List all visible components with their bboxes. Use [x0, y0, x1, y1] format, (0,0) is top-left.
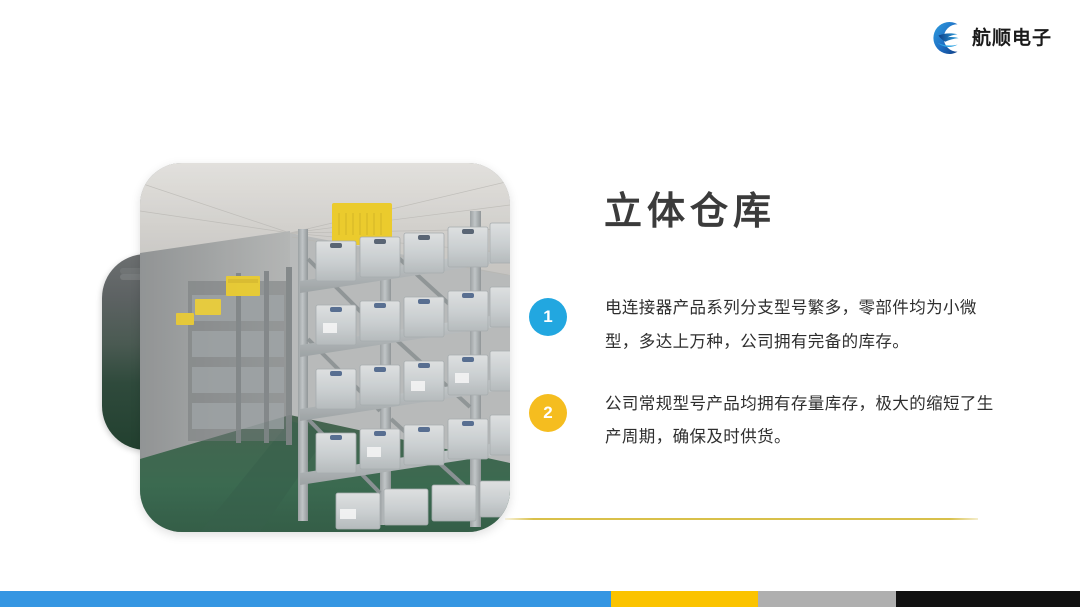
bar-segment-black [896, 591, 1080, 607]
bar-segment-yellow [611, 591, 758, 607]
bullet-text: 公司常规型号产品均拥有存量库存，极大的缩短了生产周期，确保及时供货。 [605, 388, 999, 456]
warehouse-shelving-photo [140, 163, 510, 532]
gold-divider-line [505, 518, 978, 520]
brand-logo: 航顺电子 [926, 18, 1052, 58]
slide-canvas: 航顺电子 [0, 0, 1080, 607]
hangshun-swoosh-icon [926, 18, 966, 58]
bullet-number-badge: 2 [529, 394, 567, 432]
bullet-list: 1 电连接器产品系列分支型号繁多，零部件均为小微型，多达上万种，公司拥有完备的库… [529, 292, 999, 483]
warehouse-photo-group [98, 158, 518, 538]
page-title: 立体仓库 [604, 190, 1004, 236]
bar-segment-gray [758, 591, 896, 607]
bullet-number-badge: 1 [529, 298, 567, 336]
list-item: 2 公司常规型号产品均拥有存量库存，极大的缩短了生产周期，确保及时供货。 [529, 388, 999, 456]
bullet-text: 电连接器产品系列分支型号繁多，零部件均为小微型，多达上万种，公司拥有完备的库存。 [605, 292, 999, 360]
list-item: 1 电连接器产品系列分支型号繁多，零部件均为小微型，多达上万种，公司拥有完备的库… [529, 292, 999, 360]
brand-name: 航顺电子 [972, 29, 1052, 48]
content-block: 立体仓库 [604, 190, 1004, 292]
bar-segment-blue [0, 591, 611, 607]
bottom-color-bar [0, 591, 1080, 607]
